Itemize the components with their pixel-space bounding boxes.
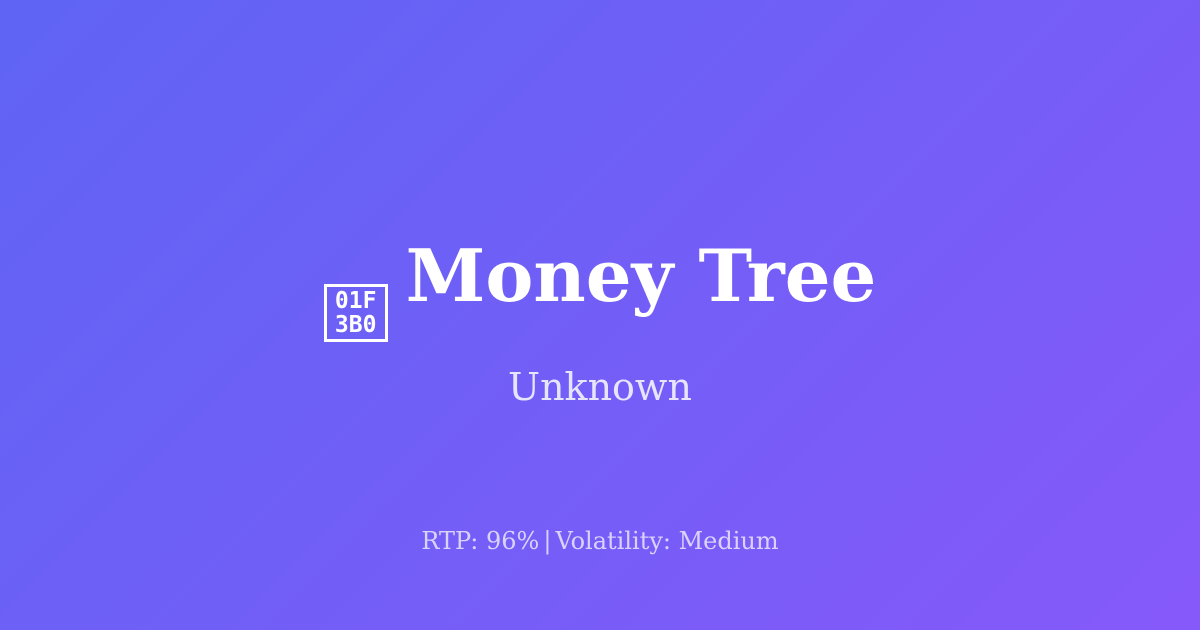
game-provider-subtitle: Unknown xyxy=(0,362,1200,412)
game-title-text: Money Tree xyxy=(406,228,877,324)
game-meta-line: RTP: 96%|Volatility: Medium xyxy=(0,524,1200,558)
tofu-codepoint-line-1: 01F xyxy=(335,289,377,313)
meta-separator: | xyxy=(539,527,555,555)
tofu-codepoint-line-2: 3B0 xyxy=(335,313,377,337)
card-content: 01F 3B0 Money Tree Unknown RTP: 96%|Vola… xyxy=(0,0,1200,630)
game-og-card: 01F 3B0 Money Tree Unknown RTP: 96%|Vola… xyxy=(0,0,1200,630)
page-title: 01F 3B0 Money Tree xyxy=(0,228,1200,341)
rtp-label: RTP: 96% xyxy=(421,527,539,555)
volatility-label: Volatility: Medium xyxy=(555,527,778,555)
slot-machine-icon: 01F 3B0 xyxy=(324,284,388,342)
